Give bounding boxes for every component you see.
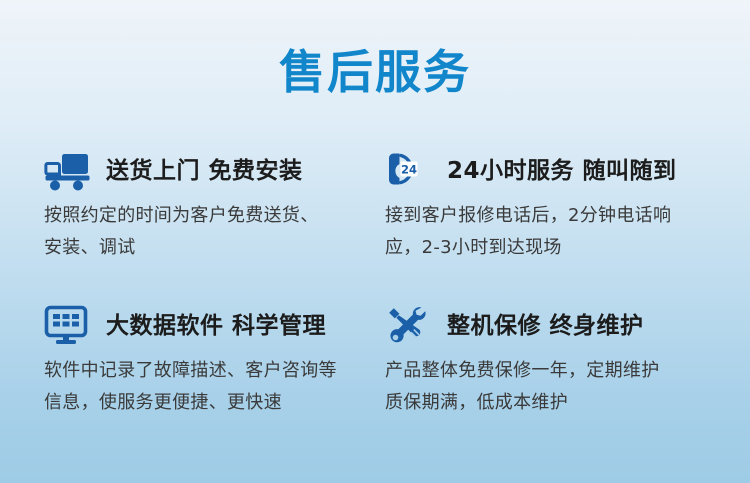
monitor-grid-icon — [44, 304, 92, 348]
after-sales-service-banner: 售后服务 送货上门 免费安装 按照约定的时间为客户免费送货、 安 — [0, 0, 750, 483]
feature-description-line-1: 软件中记录了故障描述、客户咨询等 — [44, 360, 337, 381]
feature-description-line-1: 产品整体免费保修一年，定期维护 — [385, 360, 660, 381]
phone-icon-badge-text: 24 — [401, 162, 417, 176]
wrench-screwdriver-icon — [385, 304, 433, 348]
feature-header: 整机保修 终身维护 — [385, 303, 732, 349]
feature-description: 产品整体免费保修一年，定期维护 质保期满，低成本维护 — [385, 355, 715, 419]
feature-description-line-2: 应，2-3小时到达现场 — [385, 232, 715, 264]
feature-header: 大数据软件 科学管理 — [44, 303, 355, 349]
feature-item-warranty-maintenance: 整机保修 终身维护 产品整体免费保修一年，定期维护 质保期满，低成本维护 — [375, 303, 750, 458]
feature-description-line-1: 按照约定的时间为客户免费送货、 — [44, 205, 319, 226]
feature-heading: 送货上门 免费安装 — [106, 157, 303, 185]
feature-heading: 24小时服务 随叫随到 — [447, 157, 677, 185]
feature-heading: 大数据软件 科学管理 — [106, 312, 326, 340]
feature-grid: 送货上门 免费安装 按照约定的时间为客户免费送货、 安装、调试 24 24小时服… — [0, 148, 750, 460]
phone-24h-icon: 24 — [385, 149, 433, 193]
feature-description-line-2: 质保期满，低成本维护 — [385, 387, 715, 419]
delivery-truck-icon — [44, 149, 92, 193]
page-title: 售后服务 — [279, 44, 471, 100]
feature-description: 接到客户报修电话后，2分钟电话响 应，2-3小时到达现场 — [385, 200, 715, 264]
feature-description-line-2: 安装、调试 — [44, 232, 355, 264]
feature-description-line-1: 接到客户报修电话后，2分钟电话响 — [385, 205, 671, 226]
feature-heading: 整机保修 终身维护 — [447, 312, 644, 340]
feature-description: 软件中记录了故障描述、客户咨询等 信息，使服务更便捷、更快速 — [44, 355, 355, 419]
feature-description: 按照约定的时间为客户免费送货、 安装、调试 — [44, 200, 355, 264]
feature-header: 24 24小时服务 随叫随到 — [385, 148, 732, 194]
page-title-wrap: 售后服务 — [0, 44, 750, 100]
feature-header: 送货上门 免费安装 — [44, 148, 355, 194]
feature-item-big-data-software: 大数据软件 科学管理 软件中记录了故障描述、客户咨询等 信息，使服务更便捷、更快… — [0, 303, 375, 458]
feature-item-delivery: 送货上门 免费安装 按照约定的时间为客户免费送货、 安装、调试 — [0, 148, 375, 303]
feature-item-24h-service: 24 24小时服务 随叫随到 接到客户报修电话后，2分钟电话响 应，2-3小时到… — [375, 148, 750, 303]
feature-description-line-2: 信息，使服务更便捷、更快速 — [44, 387, 355, 419]
